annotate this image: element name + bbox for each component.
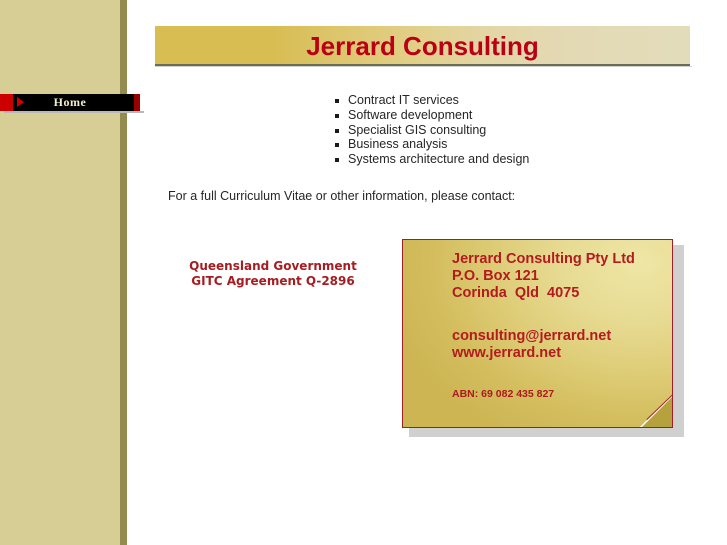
contact-abn: ABN: 69 082 435 827 [452,388,554,400]
card-corner-curl-fold [642,397,672,427]
page-header-banner: Jerrard Consulting [155,26,690,64]
home-button-shadow [4,111,144,113]
sidebar-item-home[interactable]: Home [0,94,140,111]
contact-website[interactable]: www.jerrard.net [452,345,561,361]
contact-intro-text: For a full Curriculum Vitae or other inf… [168,189,515,203]
sidebar [0,0,127,545]
contact-email[interactable]: consulting@jerrard.net [452,328,611,344]
list-item: Business analysis [327,137,529,152]
header-rule-highlight [155,66,692,67]
services-list: Contract IT services Software developmen… [327,93,529,167]
gitc-line-government: Queensland Government [179,259,367,274]
contact-company-name: Jerrard Consulting Pty Ltd [452,251,635,267]
gitc-line-agreement: GITC Agreement Q-2896 [179,274,367,289]
contact-po-box: P.O. Box 121 [452,268,539,284]
sidebar-item-label: Home [0,95,140,110]
list-item: Systems architecture and design [327,152,529,167]
gitc-accreditation-block: Queensland Government GITC Agreement Q-2… [179,259,367,289]
list-item: Contract IT services [327,93,529,108]
sidebar-background [0,0,120,545]
sidebar-divider-stripe [120,0,127,545]
contact-card: Jerrard Consulting Pty Ltd P.O. Box 121 … [402,239,673,428]
contact-suburb-state-postcode: Corinda Qld 4075 [452,285,579,301]
list-item: Software development [327,108,529,123]
page-title: Jerrard Consulting [155,31,690,62]
list-item: Specialist GIS consulting [327,123,529,138]
main-content: Jerrard Consulting Contract IT services … [127,0,727,545]
